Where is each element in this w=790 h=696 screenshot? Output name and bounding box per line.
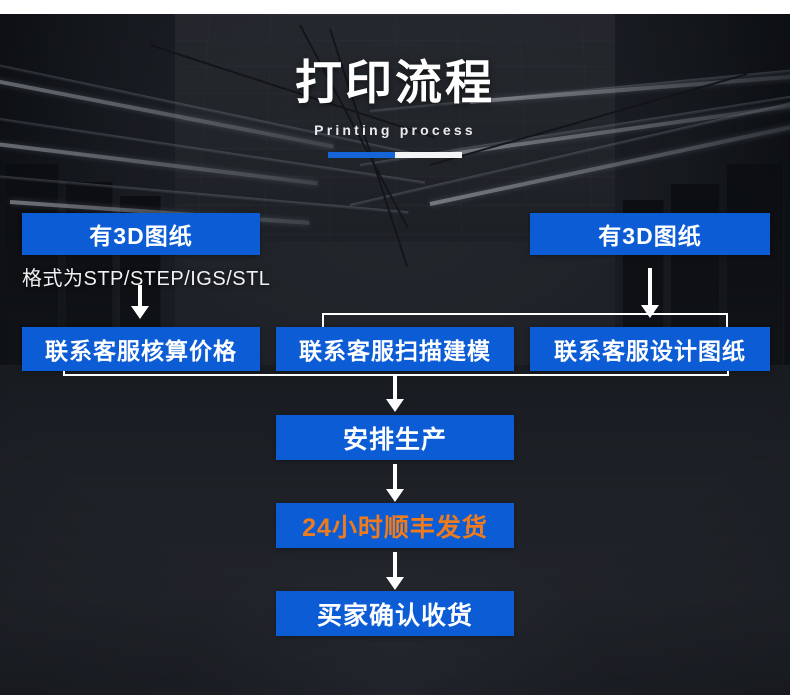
box-contact-service-design-drawing[interactable]: 联系客服设计图纸	[530, 327, 770, 371]
box-24h-sf-express-shipping[interactable]: 24小时顺丰发货	[276, 503, 514, 548]
title-divider	[328, 152, 462, 158]
box-top-left-has-3d-drawing[interactable]: 有3D图纸	[22, 213, 260, 255]
connector-bottom-bracket-left-rise	[63, 371, 65, 376]
page-subtitle: Printing process	[0, 122, 790, 138]
arrow-down-icon	[386, 552, 404, 590]
connector-top-bracket-left-drop	[322, 313, 324, 327]
box-arrange-production[interactable]: 安排生产	[276, 415, 514, 460]
page-title: 打印流程	[0, 58, 790, 109]
box-buyer-confirm-receipt[interactable]: 买家确认收货	[276, 591, 514, 636]
box-contact-service-scan-model[interactable]: 联系客服扫描建模	[276, 327, 514, 371]
divider-segment-white	[395, 152, 462, 158]
box-contact-service-quote[interactable]: 联系客服核算价格	[22, 327, 260, 371]
arrow-down-icon	[386, 464, 404, 502]
box-top-right-has-3d-drawing[interactable]: 有3D图纸	[530, 213, 770, 255]
arrow-down-icon	[386, 374, 404, 412]
divider-segment-blue	[328, 152, 395, 158]
arrow-down-icon	[131, 285, 149, 319]
printing-process-infographic: 打印流程 Printing process 有3D图纸 有3D图纸 格式为STP…	[0, 0, 790, 696]
header: 打印流程 Printing process	[0, 58, 790, 158]
connector-bottom-bracket-right-rise	[727, 371, 729, 376]
connector-top-bracket-horizontal	[322, 313, 728, 315]
connector-top-bracket-right-drop	[726, 313, 728, 327]
arrow-down-icon	[641, 268, 659, 318]
